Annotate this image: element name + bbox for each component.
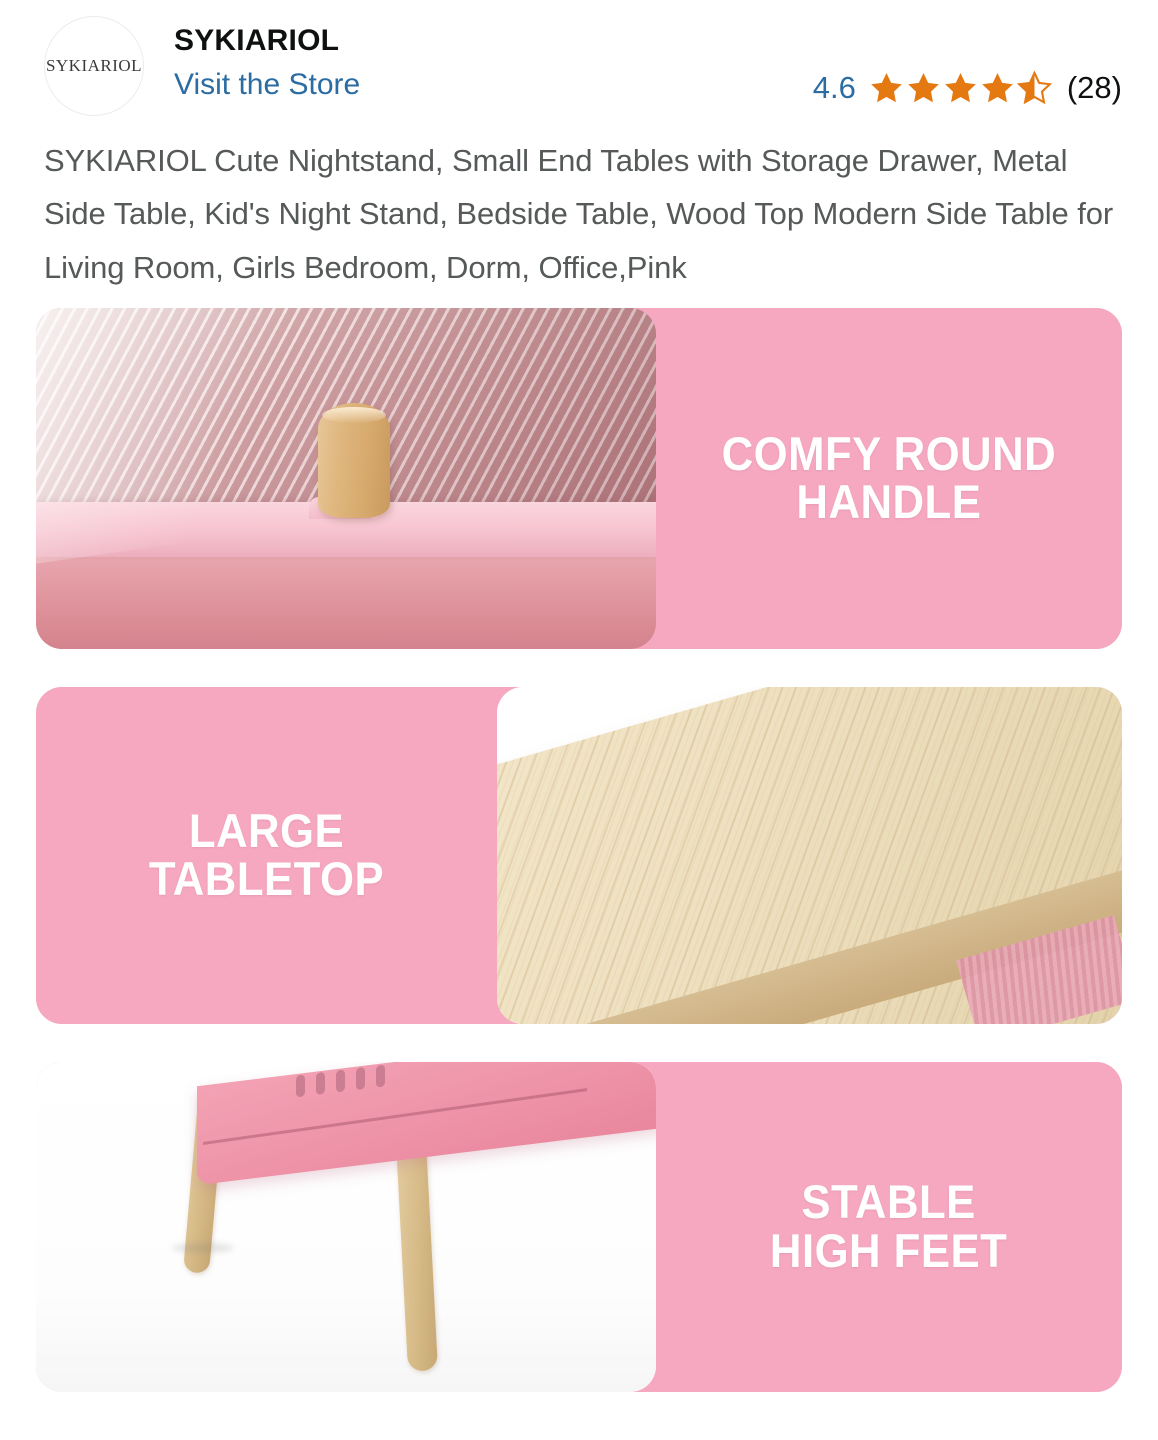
feature-label: LARGE TABLETOP <box>149 807 384 905</box>
vent-hole <box>376 1065 385 1088</box>
cabinet-lower-body <box>36 557 656 649</box>
star-rating-icons[interactable] <box>868 70 1053 106</box>
vent-hole <box>356 1067 365 1090</box>
half-star-icon <box>1016 70 1053 106</box>
feature-label-pane: LARGE TABLETOP <box>36 687 497 1024</box>
vent-hole <box>336 1070 345 1093</box>
brand-name: SYKIARIOL <box>174 24 360 59</box>
brand-logo-text: SYKIARIOL <box>46 56 142 76</box>
star-icon <box>905 70 942 106</box>
rating-block[interactable]: 4.6 <box>813 12 1136 106</box>
product-title: SYKIARIOL Cute Nightstand, Small End Tab… <box>0 128 1158 294</box>
star-icon <box>979 70 1016 106</box>
vent-hole <box>316 1072 325 1095</box>
star-icon <box>942 70 979 106</box>
feature-label-pane: COMFY ROUND HANDLE <box>656 308 1122 649</box>
brand-logo[interactable]: SYKIARIOL <box>44 16 144 116</box>
product-image-legs[interactable] <box>36 1062 656 1392</box>
feature-label: STABLE HIGH FEET <box>770 1178 1007 1276</box>
store-header: SYKIARIOL SYKIARIOL Visit the Store 4.6 <box>0 0 1158 128</box>
visit-store-link[interactable]: Visit the Store <box>174 65 360 104</box>
product-image-tabletop[interactable] <box>497 687 1122 1024</box>
feature-label-pane: STABLE HIGH FEET <box>656 1062 1122 1392</box>
brand-text-block: SYKIARIOL Visit the Store <box>174 12 360 104</box>
feature-panel-large-tabletop[interactable]: LARGE TABLETOP <box>36 687 1122 1024</box>
review-count[interactable]: (28) <box>1067 70 1122 106</box>
product-image-handle[interactable] <box>36 308 656 649</box>
rating-value: 4.6 <box>813 70 856 106</box>
feature-panel-list: COMFY ROUND HANDLE LARGE TABLETOP <box>0 294 1158 1392</box>
star-icon <box>868 70 905 106</box>
feature-panel-stable-high-feet[interactable]: STABLE HIGH FEET <box>36 1062 1122 1392</box>
vent-hole <box>296 1075 305 1098</box>
feature-panel-comfy-round-handle[interactable]: COMFY ROUND HANDLE <box>36 308 1122 649</box>
feature-label: COMFY ROUND HANDLE <box>722 430 1057 528</box>
